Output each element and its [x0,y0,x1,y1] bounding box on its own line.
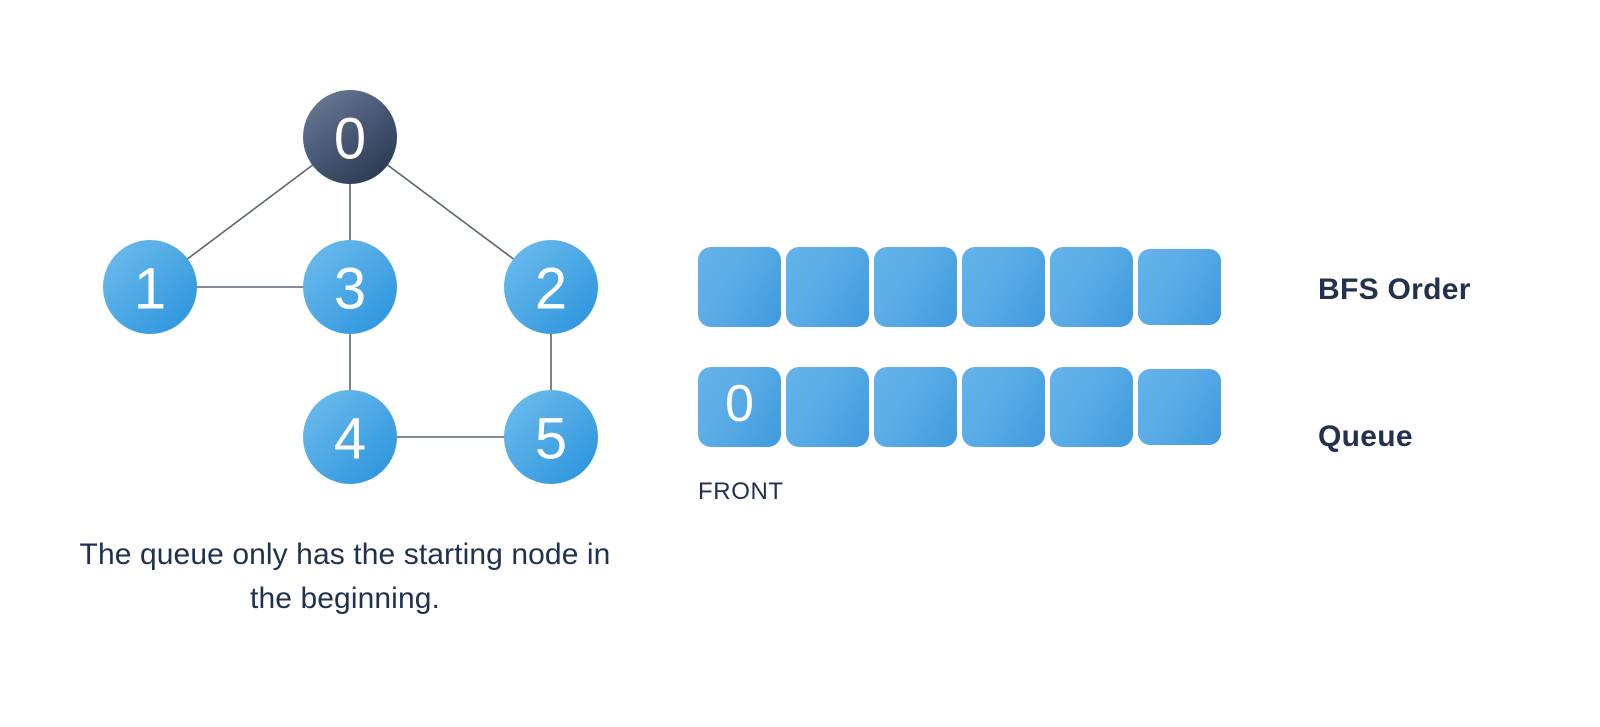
bfs-order-cell[interactable] [698,247,781,327]
node-label-3: 3 [334,257,366,322]
node-label-5: 5 [535,407,567,472]
graph-node-4[interactable]: 4 [303,390,397,484]
queue-cell[interactable]: 0 [698,367,781,447]
queue-cell-value: 0 [698,375,781,433]
graph-node-1[interactable]: 1 [103,240,197,334]
graph-node-3[interactable]: 3 [303,240,397,334]
queue-cell[interactable] [1138,369,1221,445]
queue-cell[interactable] [1050,367,1133,447]
node-label-1: 1 [134,257,166,322]
bfs-order-row: BFS Order [698,247,1221,327]
bfs-order-cell[interactable] [1050,247,1133,327]
graph-panel: 0 1 3 2 4 5 The queue only has the start… [0,0,660,727]
bfs-order-cell[interactable] [874,247,957,327]
queue-cells: 0 [698,367,1221,447]
graph-node-2[interactable]: 2 [504,240,598,334]
bfs-order-cells [698,247,1221,327]
bfs-order-cell[interactable] [1138,249,1221,325]
graph-node-5[interactable]: 5 [504,390,598,484]
graph-node-0[interactable]: 0 [303,90,397,184]
node-label-4: 4 [334,407,366,472]
node-label-0: 0 [334,107,366,172]
queue-cell[interactable] [786,367,869,447]
queue-row: 0 Queue [698,367,1221,447]
graph-caption: The queue only has the starting node in … [60,533,630,621]
bfs-order-cell[interactable] [786,247,869,327]
bfs-order-cell[interactable] [962,247,1045,327]
queue-cell[interactable] [874,367,957,447]
graph-diagram: 0 1 3 2 4 5 [0,0,660,520]
queue-cell[interactable] [962,367,1045,447]
structures-panel: BFS Order 0 Queue FRONT [660,0,1600,727]
queue-front-label: FRONT [698,478,784,506]
queue-label: Queue [1318,420,1413,454]
node-label-2: 2 [535,257,567,322]
bfs-order-label: BFS Order [1318,273,1471,307]
